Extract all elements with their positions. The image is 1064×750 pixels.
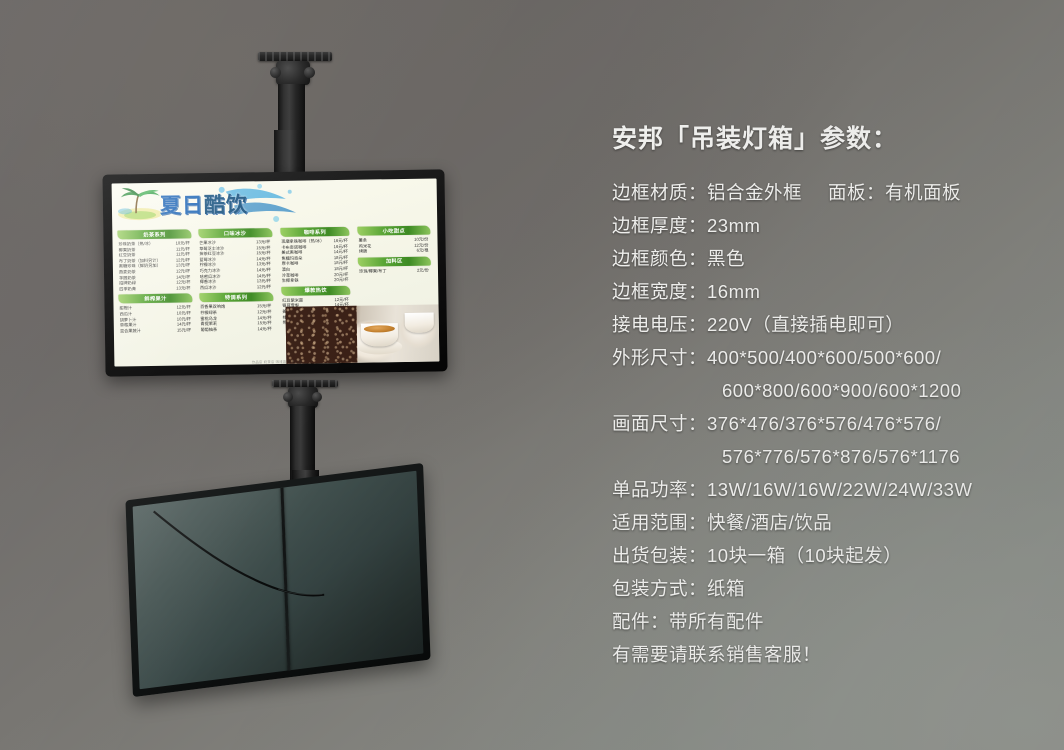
spec-line: 配件：带所有配件 <box>612 605 1042 638</box>
menu-column: 口味冰沙芒果冰沙13元/杯草莓芝士冰沙15元/杯抹茶红豆冰沙15元/杯蓝莓冰沙1… <box>198 228 274 335</box>
panel-seam <box>280 480 291 678</box>
menu-section-header: 小吃甜点 <box>357 226 430 236</box>
menu-section-header: 口味冰沙 <box>198 228 272 238</box>
coffee-photo <box>286 305 440 364</box>
spec-line: 接电电压：220V（直接插电即可） <box>612 308 1042 341</box>
hanging-lightbox-unlit[interactable] <box>125 463 430 697</box>
spec-line: 出货包装：10块一箱（10块起发） <box>612 539 1042 572</box>
menu-section-title: 爆款热饮 <box>305 287 327 294</box>
menu-section: 鲜榨果汁甜橙汁12元/杯西瓜汁10元/杯胡萝卜汁10元/杯草莓果汁14元/杯混合… <box>118 294 193 334</box>
menu-header-artwork: 夏日酷饮 <box>112 180 308 229</box>
menu-section-title: 特调系列 <box>225 294 247 301</box>
ceiling-plate-icon <box>272 380 338 387</box>
ceiling-plate-icon <box>258 52 332 61</box>
plate-holes <box>258 52 332 61</box>
product-photo-scene: 夏日酷饮 奶茶系列珍珠奶茶（热/冰）10元/杯椰果奶茶11元/杯红豆奶茶11元/… <box>0 0 1064 750</box>
hanging-lightbox-illuminated[interactable]: 夏日酷饮 奶茶系列珍珠奶茶（热/冰）10元/杯椰果奶茶11元/杯红豆奶茶11元/… <box>102 169 447 376</box>
menu-item-name: 生椰拿铁 <box>282 278 299 284</box>
menu-display-surface: 夏日酷饮 奶茶系列珍珠奶茶（热/冰）10元/杯椰果奶茶11元/杯红豆奶茶11元/… <box>112 178 440 366</box>
menu-section-header: 咖啡系列 <box>280 227 350 237</box>
tilt-knob-icon <box>270 67 281 78</box>
menu-item-row: 四季奶青13元/杯 <box>118 285 192 292</box>
spec-line: 包装方式：纸箱 <box>612 572 1042 605</box>
plate-holes <box>272 380 338 387</box>
menu-item-row: 烤肠6元/根 <box>358 248 431 255</box>
menu-section-header: 加料区 <box>358 256 431 266</box>
tilt-knob-icon <box>312 392 322 402</box>
menu-item-name: 珍珠/椰果/布丁 <box>359 268 387 274</box>
menu-item-row: 生椰拿铁20元/杯 <box>281 277 351 284</box>
spec-line: 适用范围：快餐/酒店/饮品 <box>612 506 1042 539</box>
spec-line: 边框厚度：23mm <box>612 209 1042 242</box>
menu-section: 咖啡系列现磨拿铁咖啡（热/冰）16元/杯卡布奇诺咖啡16元/杯美式黑咖啡14元/… <box>280 227 350 284</box>
spec-line: 画面尺寸：376*476/376*576/476*576/ <box>612 407 1042 440</box>
menu-item-price: 13元/杯 <box>173 285 190 291</box>
menu-section-header: 鲜榨果汁 <box>118 294 192 304</box>
menu-item-price: 20元/杯 <box>331 277 348 283</box>
menu-item-price: 2元/份 <box>414 267 429 273</box>
tilt-knob-icon <box>304 67 315 78</box>
menu-item-row: 珍珠/椰果/布丁2元/份 <box>358 267 431 274</box>
menu-item-name: 四季奶青 <box>119 286 136 292</box>
menu-section: 特调系列百香果双响炮15元/杯柠檬绿茶12元/杯蜜桃乌龙14元/杯青提茉莉15元… <box>199 292 274 332</box>
spec-text-block: 安邦「吊装灯箱」参数： 边框材质：铝合金外框面板：有机面板边框厚度：23mm边框… <box>612 126 1042 671</box>
menu-watermark: 饮品店 奶茶店 咖啡店 点餐灯箱 <box>252 359 302 365</box>
menu-item-price: 6元/根 <box>414 248 429 254</box>
spec-line-main: 边框材质：铝合金外框 <box>612 182 802 203</box>
spec-line: 边框材质：铝合金外框面板：有机面板 <box>612 176 1042 209</box>
menu-section-title: 口味冰沙 <box>224 229 246 236</box>
tilt-knob-icon <box>283 392 293 402</box>
power-cable <box>133 471 424 689</box>
menu-section: 口味冰沙芒果冰沙13元/杯草莓芝士冰沙15元/杯抹茶红豆冰沙15元/杯蓝莓冰沙1… <box>198 228 273 291</box>
menu-column: 小吃甜点薯条10元/份鸡米花12元/份烤肠6元/根加料区珍珠/椰果/布丁2元/份 <box>357 226 430 278</box>
spec-line-continuation: 576*776/576*876/576*1176 <box>612 440 1042 473</box>
mount-pole-upper <box>278 84 305 136</box>
menu-item-price: 12元/杯 <box>254 284 271 290</box>
spec-line-list: 边框材质：铝合金外框面板：有机面板边框厚度：23mm边框颜色：黑色边框宽度：16… <box>612 176 1042 638</box>
menu-item-name: 烤肠 <box>359 249 367 255</box>
spec-line: 边框颜色：黑色 <box>612 242 1042 275</box>
menu-item-price: 14元/杯 <box>254 326 271 332</box>
menu-item-row: 葡萄柚茶14元/杯 <box>199 326 273 333</box>
menu-section-header: 特调系列 <box>199 292 273 302</box>
spec-line: 边框宽度：16mm <box>612 275 1042 308</box>
spec-footer: 有需要请联系销售客服！ <box>612 638 1042 671</box>
menu-item-row: 混合果蔬汁15元/杯 <box>119 327 193 334</box>
menu-section: 加料区珍珠/椰果/布丁2元/份 <box>358 256 431 274</box>
menu-section-title: 加料区 <box>386 258 403 265</box>
menu-item-name: 混合果蔬汁 <box>120 328 141 334</box>
menu-title: 夏日酷饮 <box>160 188 248 219</box>
menu-item-name: 葡萄柚茶 <box>200 327 217 333</box>
coffee-cup-back <box>405 313 434 333</box>
page-title: 安邦「吊装灯箱」参数： <box>612 126 1042 154</box>
menu-section-title: 咖啡系列 <box>304 228 326 235</box>
menu-column: 奶茶系列珍珠奶茶（热/冰）10元/杯椰果奶茶11元/杯红豆奶茶11元/杯布丁奶茶… <box>117 229 193 336</box>
menu-section: 小吃甜点薯条10元/份鸡米花12元/份烤肠6元/根 <box>357 226 430 255</box>
menu-section-header: 爆款热饮 <box>281 286 351 296</box>
menu-item-price: 15元/杯 <box>174 327 191 333</box>
coffee-beans-image <box>286 306 357 364</box>
spec-line-continuation: 600*800/600*900/600*1200 <box>612 374 1042 407</box>
spec-line: 单品功率：13W/16W/16W/22W/24W/33W <box>612 473 1042 506</box>
menu-item-name: 西瓜冰沙 <box>200 285 217 291</box>
spec-line-secondary: 面板：有机面板 <box>828 182 961 203</box>
menu-section-title: 鲜榨果汁 <box>144 295 166 302</box>
menu-section-title: 小吃甜点 <box>383 227 405 234</box>
spec-line: 外形尺寸：400*500/400*600/500*600/ <box>612 341 1042 374</box>
panel-face <box>133 471 424 689</box>
menu-section-header: 奶茶系列 <box>117 229 191 239</box>
menu-section-title: 奶茶系列 <box>143 231 165 238</box>
menu-item-row: 西瓜冰沙12元/杯 <box>199 284 273 291</box>
menu-section: 奶茶系列珍珠奶茶（热/冰）10元/杯椰果奶茶11元/杯红豆奶茶11元/杯布丁奶茶… <box>117 229 192 292</box>
